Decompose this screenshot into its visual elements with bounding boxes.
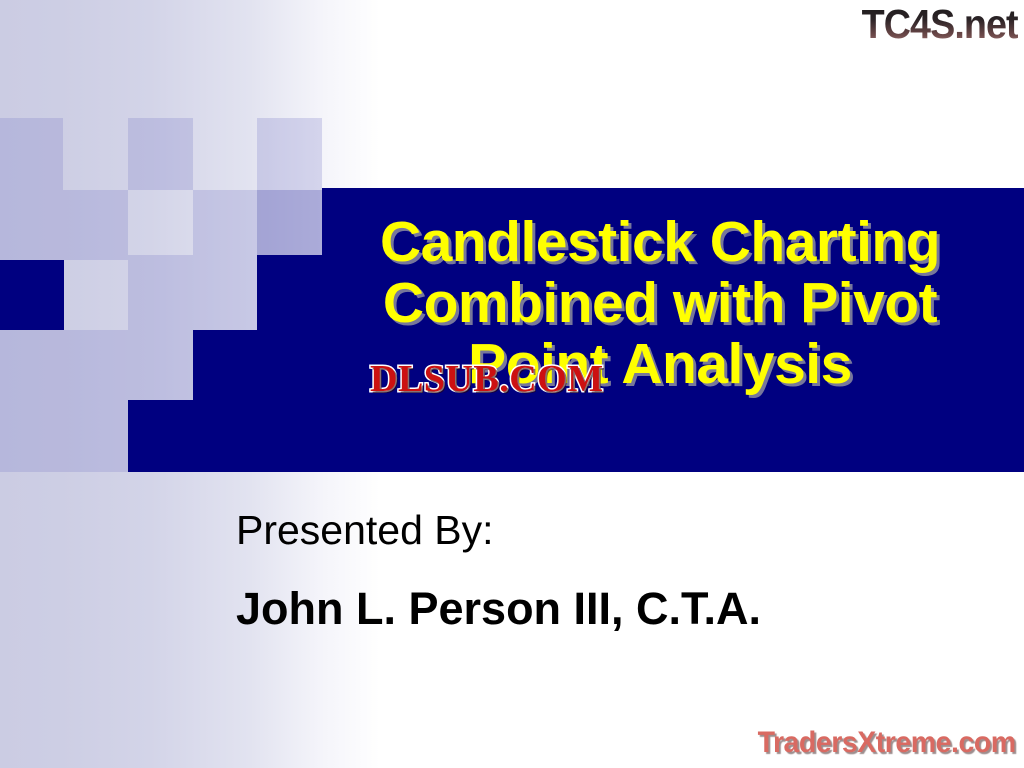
tradersxtreme-logo: TradersXtreme.com [758, 726, 1016, 760]
slide-title-line-2: Combined with Pivot [330, 273, 990, 334]
deco-square-r5c1 [63, 400, 128, 472]
deco-square-r2c3 [193, 190, 257, 255]
presented-by-label: Presented By: [236, 505, 761, 555]
deco-square-r4c2 [128, 330, 193, 400]
deco-square-r3c3b [193, 255, 257, 330]
slide-title-line-1: Candlestick Charting [330, 212, 990, 273]
deco-square-r2c1 [63, 190, 128, 260]
slide-subtitle: Presented By: John L. Person III, C.T.A. [236, 505, 761, 637]
deco-square-navy-left [0, 260, 64, 330]
presenter-name: John L. Person III, C.T.A. [236, 581, 761, 637]
presentation-slide: Candlestick Charting Combined with Pivot… [0, 0, 1024, 768]
deco-square-r0c3 [128, 118, 193, 190]
deco-square-r3c3 [128, 255, 193, 330]
deco-square-r1c4 [257, 118, 322, 190]
deco-square-r1c1 [0, 118, 63, 260]
dlsub-watermark: DLSUB.COM [370, 360, 604, 398]
tc4s-logo: TC4S.net [862, 1, 1018, 47]
deco-square-r4c0 [0, 330, 63, 472]
deco-square-r2c4 [257, 190, 322, 255]
deco-square-r3c1 [63, 330, 128, 400]
title-band-step-3 [128, 400, 208, 472]
